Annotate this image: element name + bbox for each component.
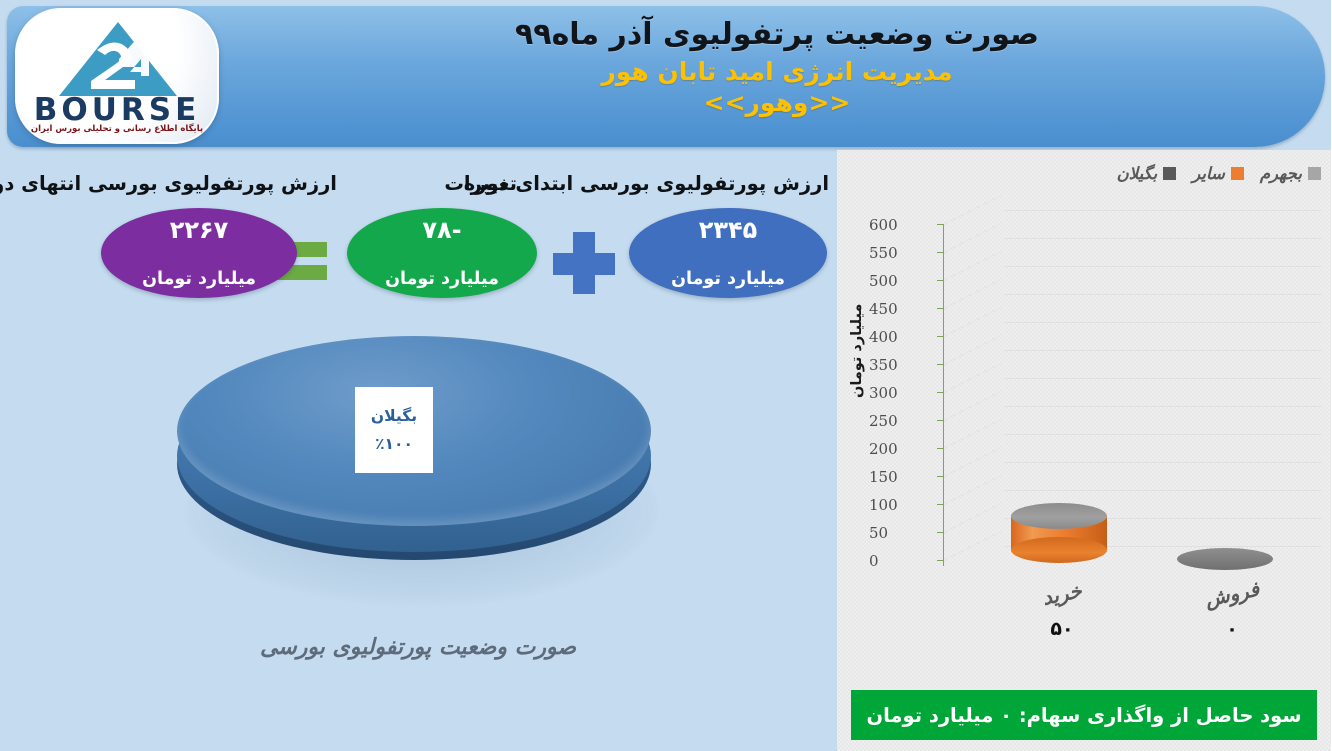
pie-slice-percent: ٪۱۰۰ <box>376 435 414 453</box>
grid-line <box>1005 210 1323 211</box>
y-tick-label: 0 <box>870 552 936 570</box>
grid-line <box>1005 350 1323 351</box>
wall-line <box>945 447 1002 477</box>
wall-line <box>945 223 1002 253</box>
wall-line <box>945 279 1002 309</box>
legend-label: سایر <box>1193 164 1226 183</box>
caption-end-value: ارزش پورتفولیوی بورسی انتهای دوره <box>0 172 338 195</box>
bar-kharid-bottom-face <box>1012 537 1108 563</box>
pie-slice-label: بگیلان ٪۱۰۰ <box>356 387 434 473</box>
x-value-foroush: ۰ <box>1178 618 1288 640</box>
legend-swatch-icon <box>1164 167 1177 180</box>
x-category-foroush: فروش <box>1177 571 1290 617</box>
end-value-number: ۲۲۶۷ <box>171 216 230 244</box>
grid-line <box>1005 490 1323 491</box>
start-value-number: ۲۳۴۵ <box>700 216 759 244</box>
chart-legend: بجهرم سایر بگیلان <box>1118 164 1322 183</box>
portfolio-pie-chart: بگیلان ٪۱۰۰ <box>160 330 680 620</box>
header-text-block: صورت وضعیت پرتفولیوی آذر ماه۹۹ مدیریت ان… <box>238 16 1318 118</box>
wall-line <box>945 195 1002 225</box>
change-value-bubble: -۷۸ میلیارد تومان <box>348 208 538 298</box>
wall-line <box>945 307 1002 337</box>
profit-banner: سود حاصل از واگذاری سهام: ۰ میلیارد توما… <box>852 690 1318 740</box>
bar-kharid <box>1012 504 1108 562</box>
y-tick-label: 200 <box>870 440 936 458</box>
grid-line <box>1005 294 1323 295</box>
wall-line <box>945 503 1002 533</box>
bar-kharid-top-face <box>1012 503 1108 529</box>
profit-banner-text: سود حاصل از واگذاری سهام: ۰ میلیارد توما… <box>867 704 1302 727</box>
x-category-kharid: خرید <box>1007 571 1120 617</box>
bar-plot-area: میلیارد تومان 600 550 500 450 400 350 30… <box>848 212 1322 672</box>
ticker-symbol: <<وهور>> <box>238 88 1318 118</box>
y-tick-label: 400 <box>870 328 936 346</box>
legend-label: بگیلان <box>1118 164 1159 183</box>
legend-swatch-icon <box>1309 167 1322 180</box>
company-name: مدیریت انرژی امید تابان هور <box>238 56 1318 88</box>
grid-line <box>1005 378 1323 379</box>
y-tick-label: 250 <box>870 412 936 430</box>
wall-line <box>945 475 1002 505</box>
y-tick-label: 500 <box>870 272 936 290</box>
legend-swatch-icon <box>1232 167 1245 180</box>
change-value-unit: میلیارد تومان <box>386 269 500 289</box>
pie-chart-caption: صورت وضعیت پورتفولیوی بورسی <box>0 635 838 660</box>
y-tick-label: 600 <box>870 216 936 234</box>
trade-bar-chart-panel: بجهرم سایر بگیلان میلیارد تومان 600 550 … <box>838 150 1332 751</box>
wall-line <box>945 335 1002 365</box>
y-tick-label: 550 <box>870 244 936 262</box>
wall-line <box>945 419 1002 449</box>
x-value-kharid: ۵۰ <box>1008 618 1118 640</box>
wall-line <box>945 251 1002 281</box>
wall-line <box>945 531 1002 561</box>
end-value-unit: میلیارد تومان <box>143 269 257 289</box>
grid-line <box>1005 322 1323 323</box>
y-axis-label: میلیارد تومان <box>850 304 866 398</box>
plus-operator-icon <box>554 232 616 294</box>
grid-line <box>1005 238 1323 239</box>
grid-line <box>1005 462 1323 463</box>
y-tick-label: 50 <box>870 524 936 542</box>
y-tick-label: 350 <box>870 356 936 374</box>
y-tick-label: 450 <box>870 300 936 318</box>
caption-change: تغییرات <box>445 172 518 195</box>
bar-foroush <box>1178 548 1274 570</box>
y-tick-label: 150 <box>870 468 936 486</box>
legend-item-bagilan: بگیلان <box>1118 164 1178 183</box>
y-axis-line <box>944 224 945 566</box>
grid-line <box>1005 434 1323 435</box>
change-value-number: -۷۸ <box>423 216 462 244</box>
end-value-bubble: ۲۲۶۷ میلیارد تومان <box>102 208 298 298</box>
start-value-bubble: ۲۳۴۵ میلیارد تومان <box>630 208 828 298</box>
caption-start-value: ارزش پورتفولیوی بورسی ابتدای دوره <box>465 172 830 195</box>
legend-label: بجهرم <box>1261 164 1303 183</box>
dashboard-root: صورت وضعیت پرتفولیوی آذر ماه۹۹ مدیریت ان… <box>0 0 1332 751</box>
bar-foroush-top-face <box>1178 548 1274 570</box>
logo-wordmark: BOURSE <box>16 92 220 128</box>
wall-line <box>945 391 1002 421</box>
y-tick-label: 100 <box>870 496 936 514</box>
logo-tagline: پایگاه اطلاع رسانی و تحلیلی بورس ایران <box>16 124 220 134</box>
wall-line <box>945 363 1002 393</box>
y-tick-label: 300 <box>870 384 936 402</box>
bourse24-logo: BOURSE پایگاه اطلاع رسانی و تحلیلی بورس … <box>16 8 220 144</box>
page-title: صورت وضعیت پرتفولیوی آذر ماه۹۹ <box>238 16 1318 54</box>
grid-line <box>1005 266 1323 267</box>
start-value-unit: میلیارد تومان <box>672 269 786 289</box>
pie-slice-name: بگیلان <box>372 407 418 425</box>
legend-item-bajohrom: بجهرم <box>1261 164 1322 183</box>
summary-section: ارزش پورتفولیوی بورسی ابتدای دوره تغییرا… <box>0 150 838 751</box>
legend-item-sayer: سایر <box>1193 164 1245 183</box>
logo-triangle-icon <box>58 20 180 98</box>
grid-line <box>1005 406 1323 407</box>
